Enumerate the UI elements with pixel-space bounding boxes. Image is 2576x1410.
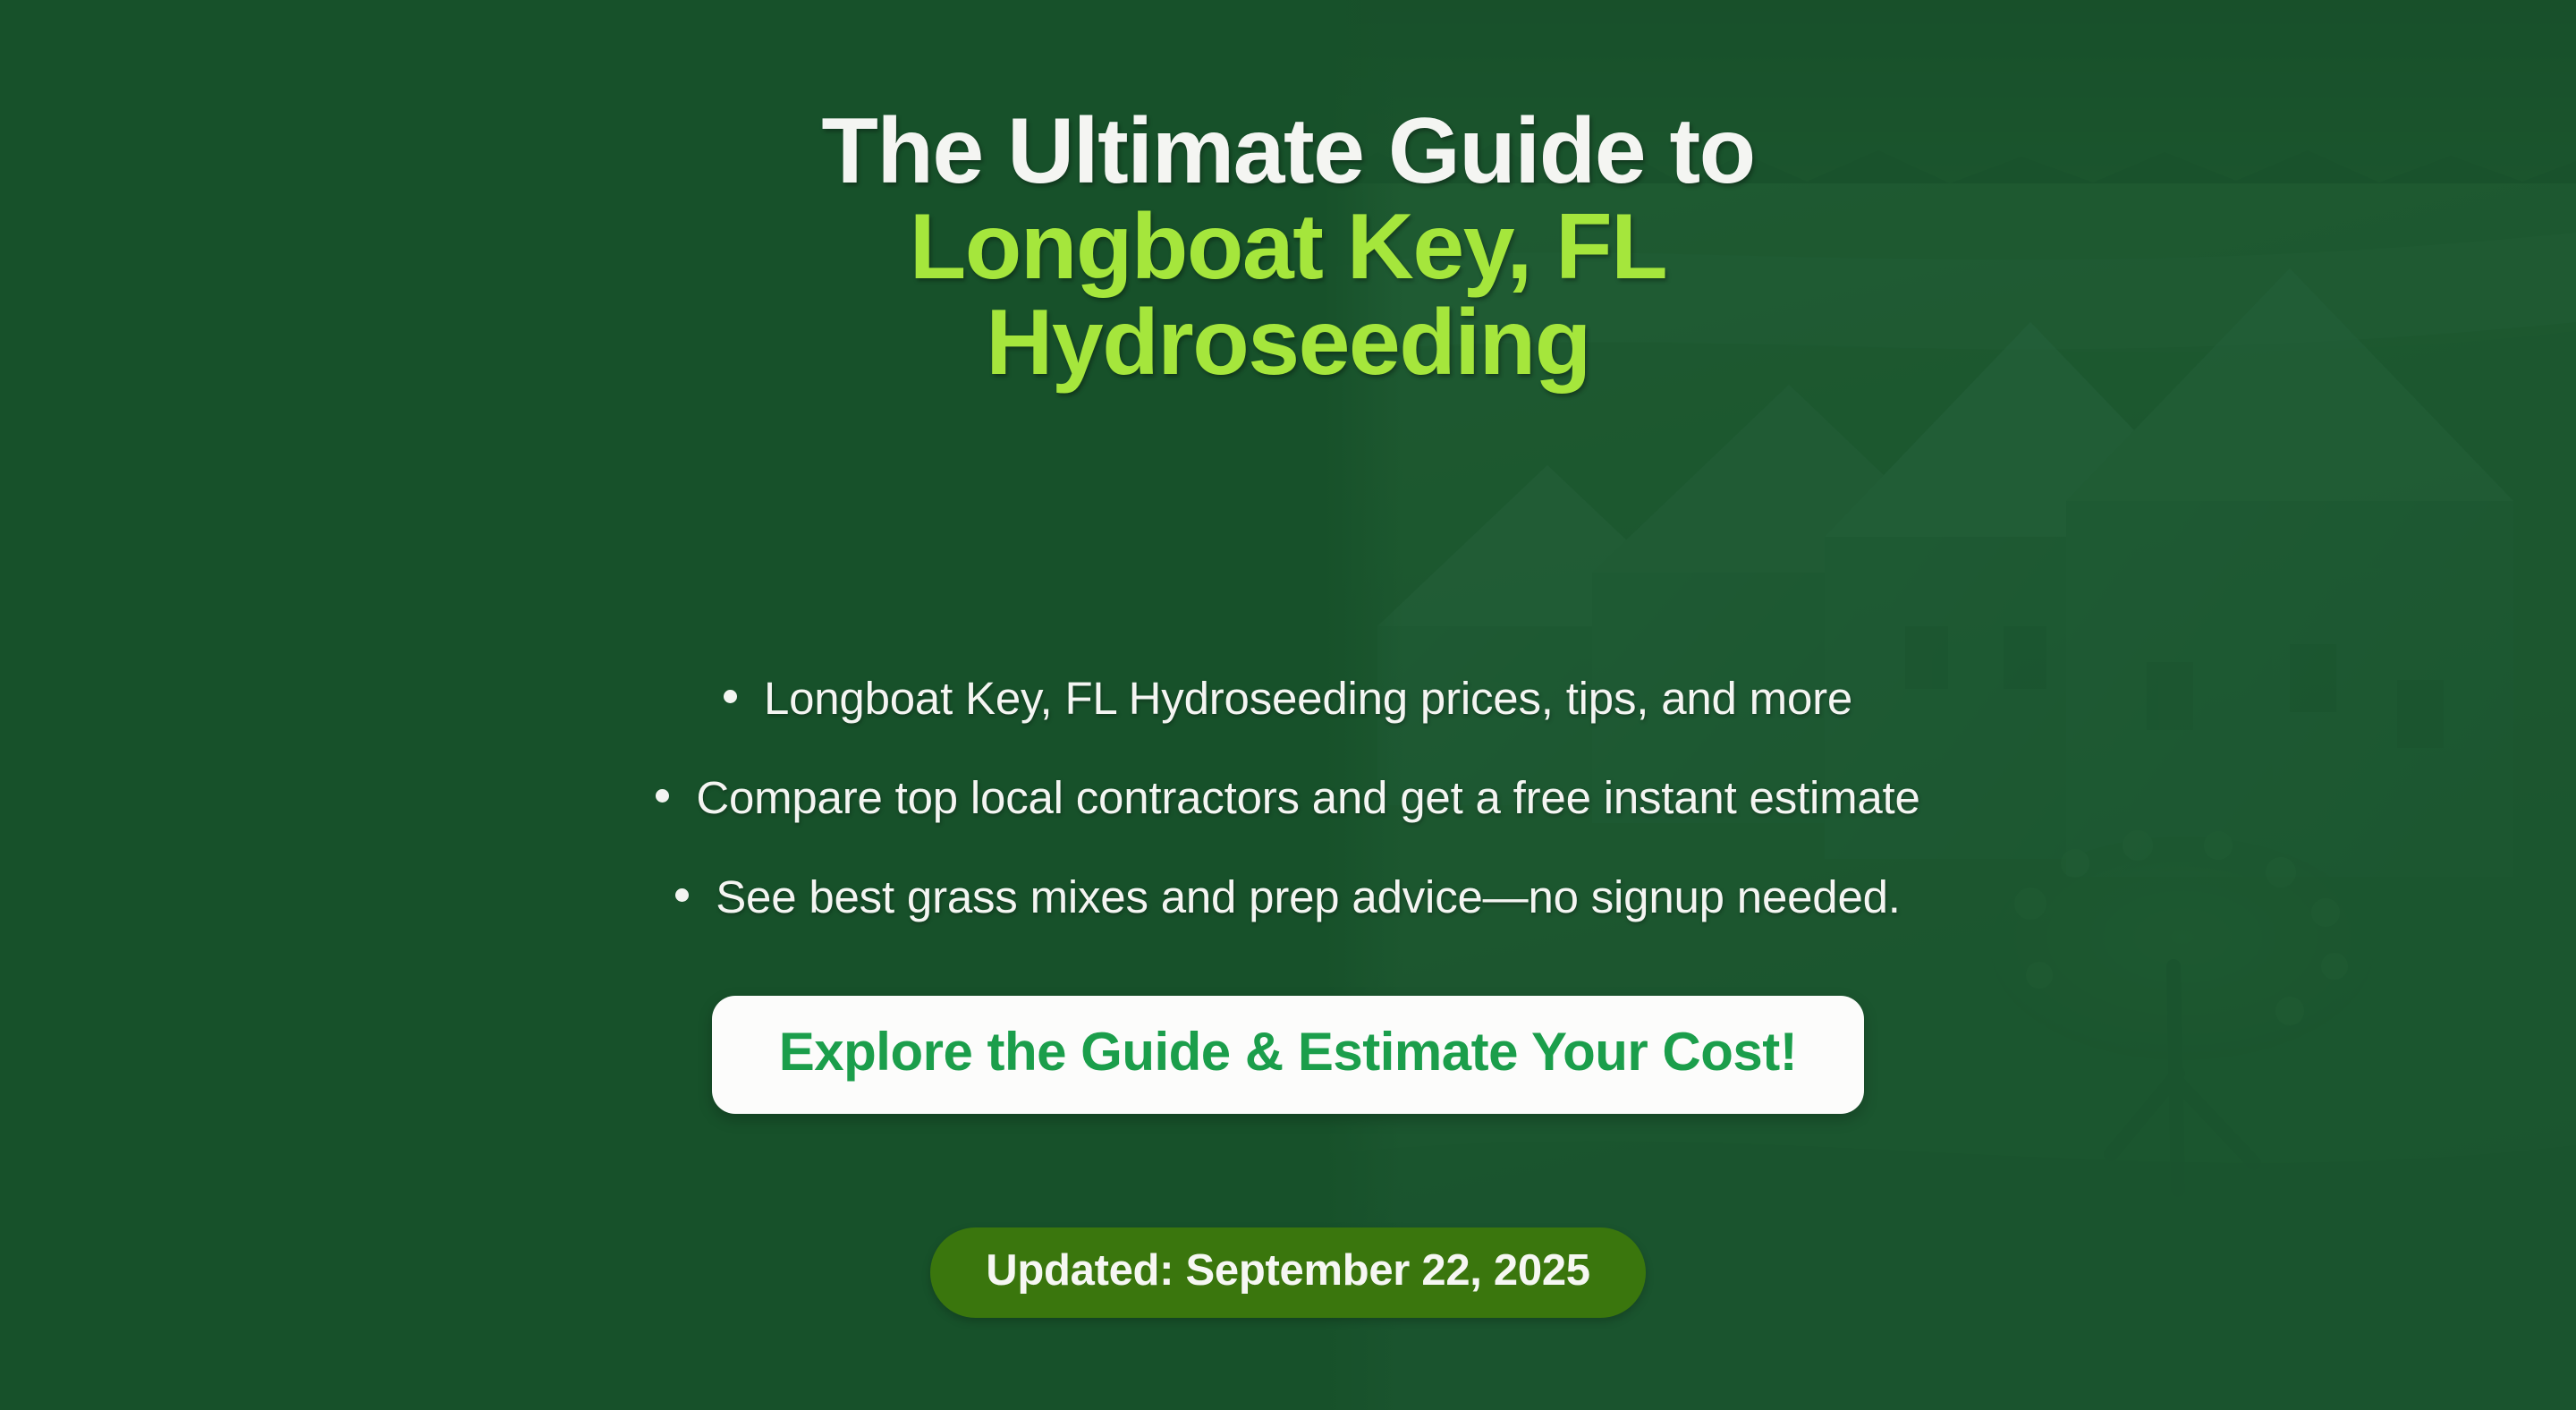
list-item-label: Compare top local contractors and get a … (696, 772, 1919, 823)
explore-guide-button[interactable]: Explore the Guide & Estimate Your Cost! (712, 996, 1865, 1114)
list-item: See best grass mixes and prep advice—no … (0, 871, 2576, 922)
benefit-list: Longboat Key, FL Hydroseeding prices, ti… (0, 673, 2576, 922)
headline-line-top: The Ultimate Guide to (0, 104, 2576, 200)
badge-container: Updated: September 22, 2025 (0, 1227, 2576, 1318)
page-title: The Ultimate Guide to Longboat Key, FL H… (0, 104, 2576, 391)
hero-content: The Ultimate Guide to Longboat Key, FL H… (0, 0, 2576, 1410)
cta-container: Explore the Guide & Estimate Your Cost! (0, 996, 2576, 1114)
bullet-dot-icon (656, 789, 669, 803)
bullet-dot-icon (675, 888, 689, 902)
headline-line-city: Longboat Key, FL (0, 200, 2576, 295)
bullet-dot-icon (724, 690, 737, 703)
hero-banner: The Ultimate Guide to Longboat Key, FL H… (0, 0, 2576, 1410)
list-item-label: Longboat Key, FL Hydroseeding prices, ti… (764, 673, 1852, 724)
list-item: Compare top local contractors and get a … (0, 772, 2576, 823)
updated-date-badge: Updated: September 22, 2025 (930, 1227, 1645, 1318)
headline-line-service: Hydroseeding (0, 295, 2576, 391)
list-item: Longboat Key, FL Hydroseeding prices, ti… (0, 673, 2576, 724)
list-item-label: See best grass mixes and prep advice—no … (716, 871, 1901, 922)
